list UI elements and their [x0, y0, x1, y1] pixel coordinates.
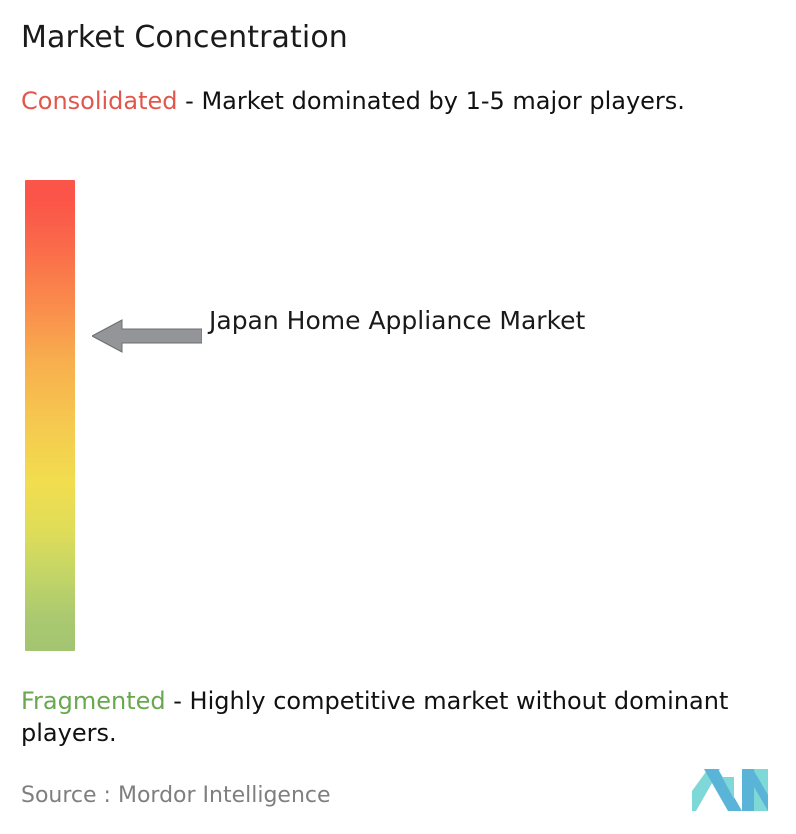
source-value: Mordor Intelligence [118, 783, 331, 808]
source-label: Source : [21, 783, 111, 808]
market-pointer-label: Japan Home Appliance Market [209, 303, 629, 338]
legend-consolidated: Consolidated - Market dominated by 1-5 m… [21, 85, 773, 117]
legend-consolidated-description: - Market dominated by 1-5 major players. [178, 87, 685, 115]
legend-fragmented: Fragmented - Highly competitive market w… [21, 685, 783, 749]
left-arrow-icon [92, 316, 202, 356]
source-attribution: Source : Mordor Intelligence [21, 782, 331, 810]
mordor-intelligence-logo-icon [692, 769, 772, 811]
legend-consolidated-term: Consolidated [21, 87, 178, 115]
market-concentration-scale-bar [25, 180, 75, 651]
legend-fragmented-term: Fragmented [21, 687, 166, 715]
page-title: Market Concentration [21, 20, 348, 56]
